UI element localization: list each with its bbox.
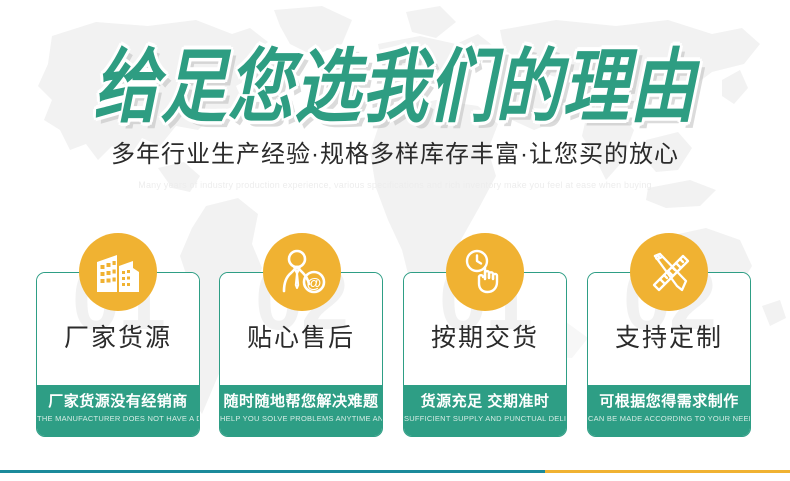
card-footer-cn: 随时随地帮您解决难题: [220, 392, 382, 411]
svg-text:@: @: [307, 275, 322, 292]
customer-service-icon: @: [278, 249, 326, 295]
divider-segment-orange: [545, 470, 790, 473]
page-title: 给足您选我们的理由: [0, 46, 790, 127]
building-icon: [95, 250, 141, 294]
card-title: 厂家货源: [37, 323, 199, 353]
card-footer-cn: 货源充足 交期准时: [404, 392, 566, 411]
icon-badge-building: [79, 233, 157, 311]
card-footer-en: Can be made according to your needs: [588, 414, 750, 424]
icon-badge-clock-hand: [446, 233, 524, 311]
card-title: 按期交货: [404, 323, 566, 353]
ruler-pencil-icon: [646, 249, 692, 295]
card-title: 支持定制: [588, 323, 750, 353]
card-footer-en: Help you solve problems anytime and anyw…: [220, 414, 382, 424]
card-footer: 厂家货源没有经销商 The manufacturer does not have…: [37, 385, 199, 436]
clock-hand-icon: [462, 249, 508, 295]
card-footer-cn: 厂家货源没有经销商: [37, 392, 199, 411]
card-footer-cn: 可根据您得需求制作: [588, 392, 750, 411]
subtitle-en: Many years of industry production experi…: [0, 179, 790, 191]
icon-badge-customer-service: @: [263, 233, 341, 311]
card-title: 贴心售后: [220, 323, 382, 353]
card-footer: 货源充足 交期准时 Sufficient supply and punctual…: [404, 385, 566, 436]
bottom-divider: [0, 470, 790, 473]
card-footer-en: Sufficient supply and punctual delivery: [404, 414, 566, 424]
header: 给足您选我们的理由 多年行业生产经验·规格多样库存丰富·让您买的放心 Many …: [0, 0, 790, 210]
promo-banner: 给足您选我们的理由 多年行业生产经验·规格多样库存丰富·让您买的放心 Many …: [0, 0, 790, 481]
card-footer: 随时随地帮您解决难题 Help you solve problems anyti…: [220, 385, 382, 436]
feature-card-row: 01 厂家货源 厂家货源没有经销商 The manufacturer does …: [36, 233, 754, 438]
divider-segment-teal: [0, 470, 545, 473]
icon-badge-ruler-pencil: [630, 233, 708, 311]
card-footer: 可根据您得需求制作 Can be made according to your …: [588, 385, 750, 436]
subtitle-cn: 多年行业生产经验·规格多样库存丰富·让您买的放心: [0, 140, 790, 170]
card-footer-en: The manufacturer does not have a dealer: [37, 414, 199, 424]
